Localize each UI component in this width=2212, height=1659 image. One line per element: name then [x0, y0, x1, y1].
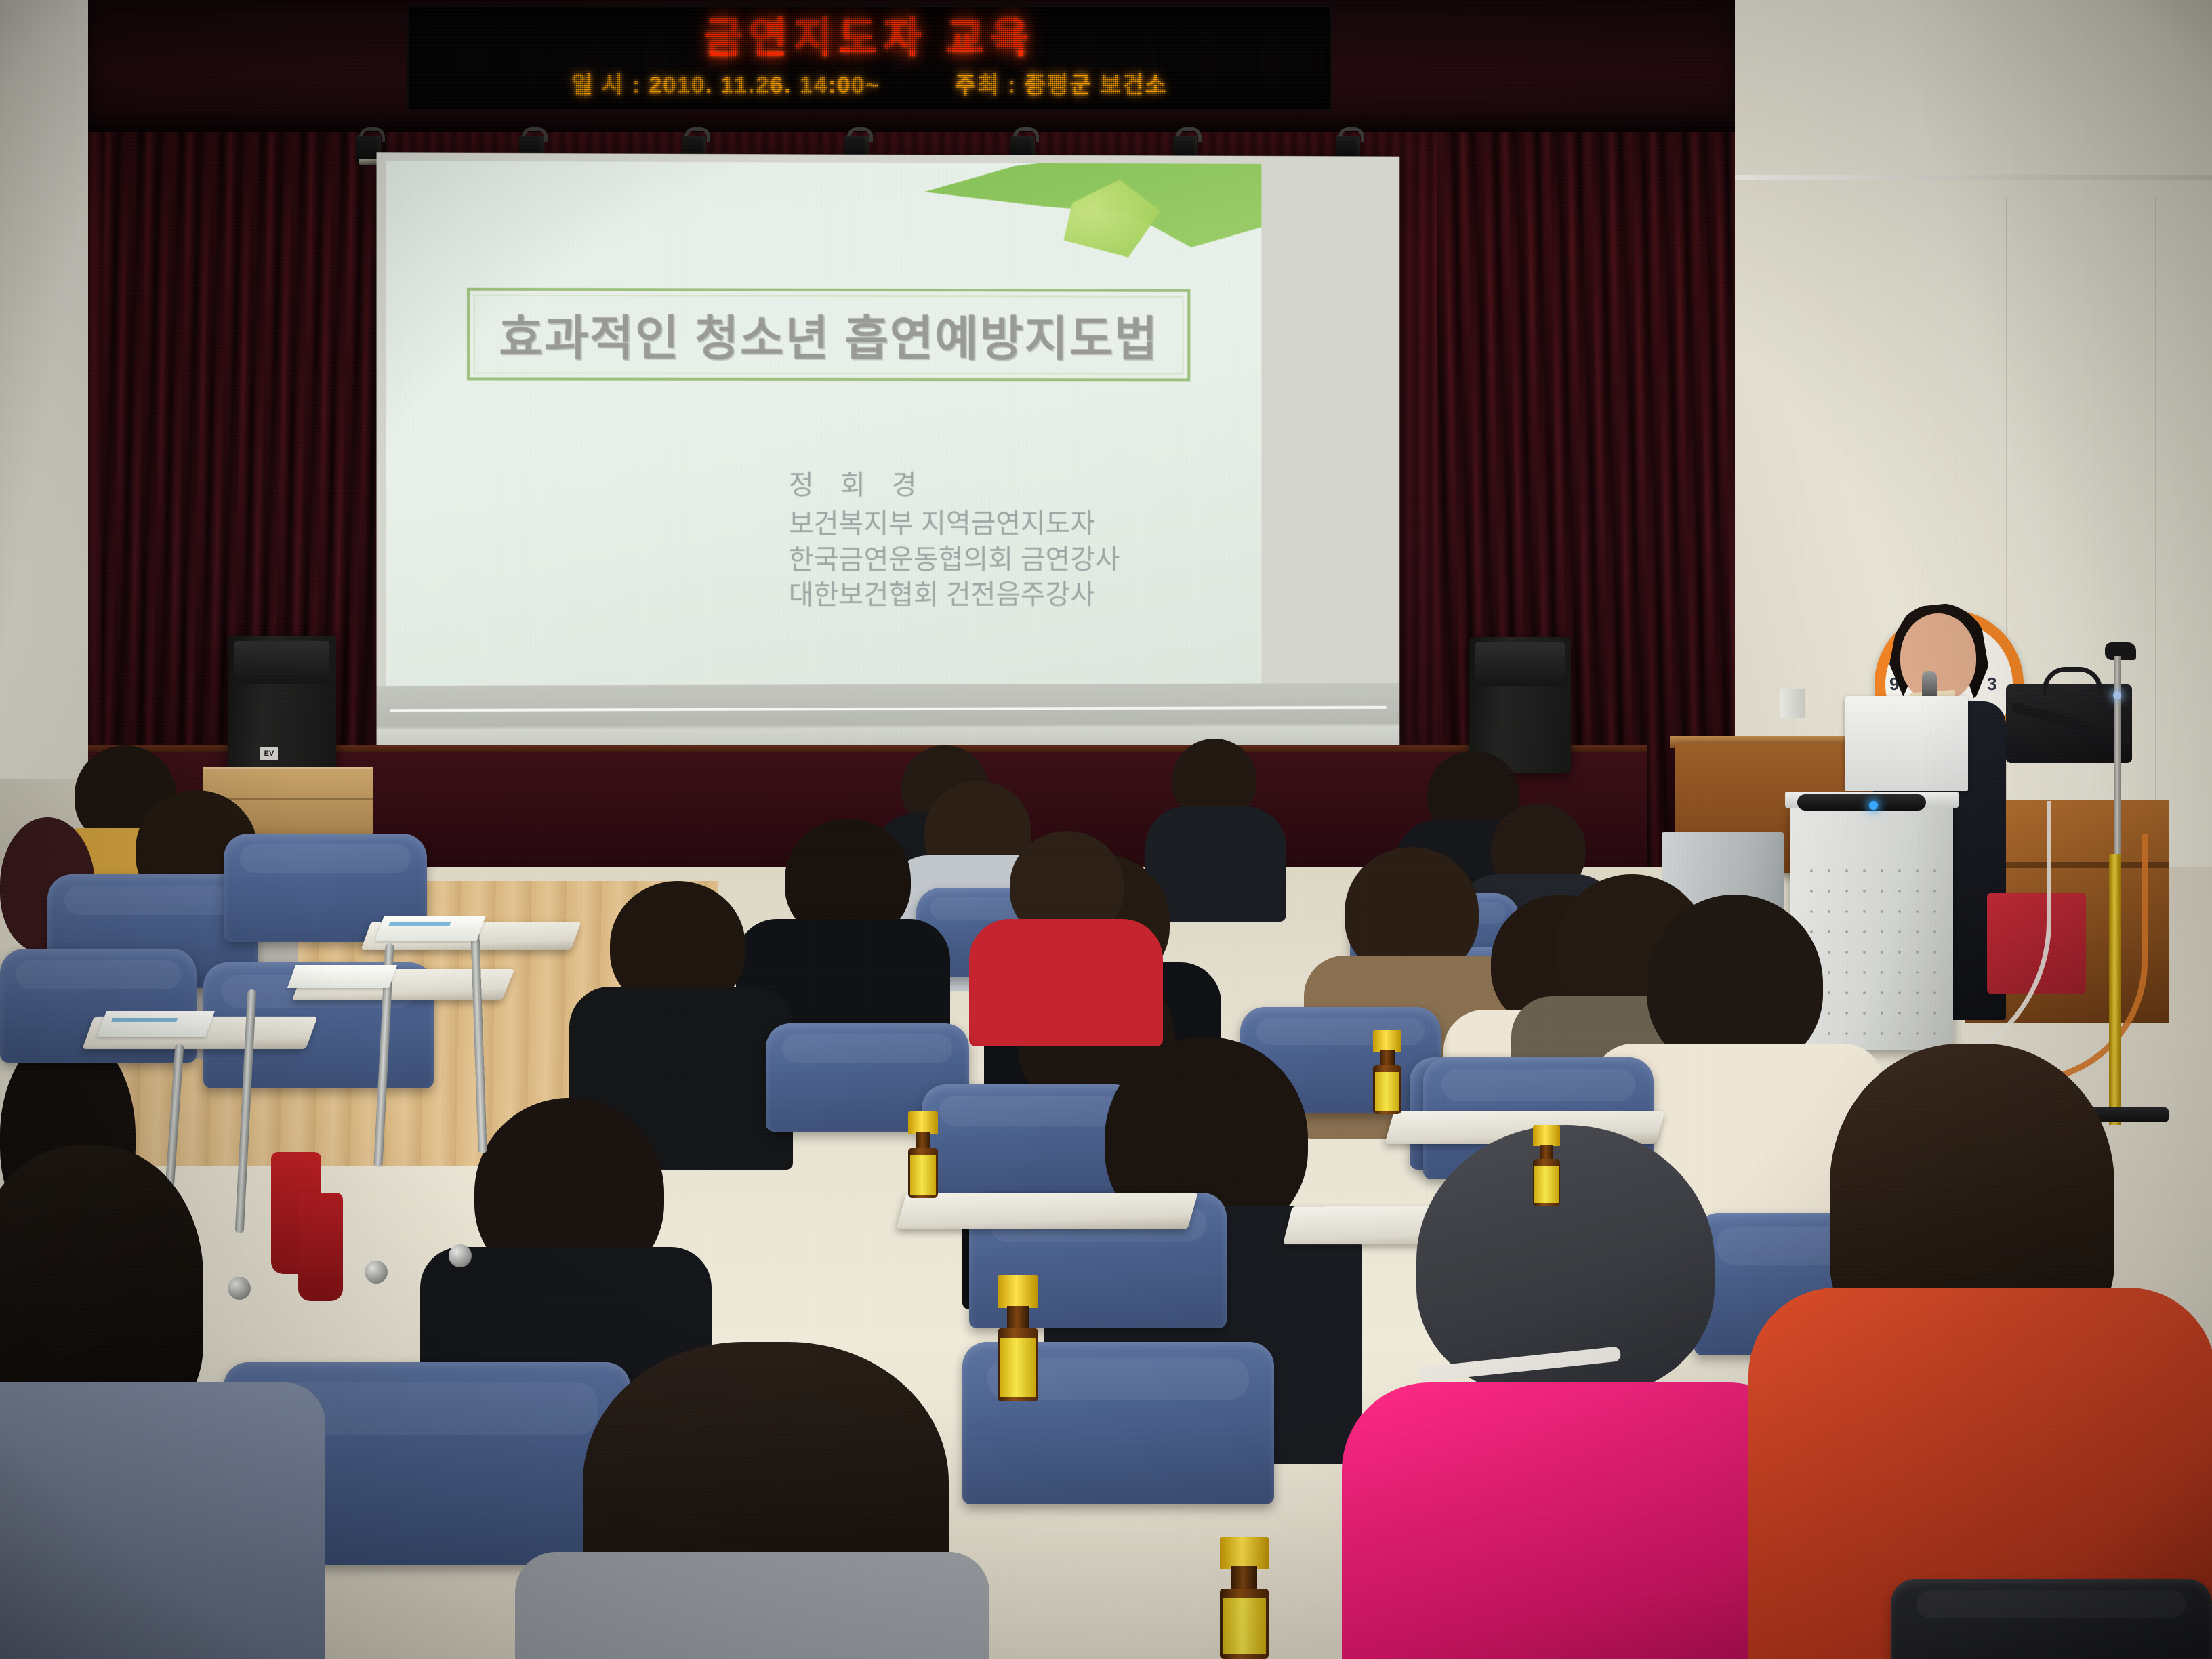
led-datetime: 일 시 : 2010. 11.26. 14:00~ — [571, 66, 880, 100]
drink-bottle[interactable] — [1220, 1537, 1269, 1659]
drink-bottle[interactable] — [1533, 1125, 1560, 1206]
auditorium-photo: 금연지도자 교육 일 시 : 2010. 11.26. 14:00~ 주최 : … — [0, 0, 2212, 1659]
drink-bottle[interactable] — [908, 1111, 938, 1198]
presenter-name: 정 회 경 — [789, 468, 1208, 504]
speaker-brand-badge: EV — [260, 747, 278, 760]
led-host: 주최 : 증평군 보건소 — [955, 66, 1168, 100]
wall-right-trim — [1677, 175, 2212, 180]
paper-cup — [1780, 689, 1805, 718]
led-marquee-sign: 금연지도자 교육 일 시 : 2010. 11.26. 14:00~ 주최 : … — [407, 5, 1332, 111]
drink-bottle[interactable] — [1373, 1030, 1401, 1114]
led-headline: 금연지도자 교육 — [704, 18, 1036, 60]
mic-stand-yellow-section — [2109, 854, 2121, 1125]
handout[interactable] — [287, 965, 397, 988]
laptop — [1845, 696, 1968, 791]
red-boot — [298, 1193, 343, 1301]
pa-speaker-left: EV — [228, 636, 336, 771]
slide-title-box: 효과적인 청소년 흡연예방지도법 — [467, 288, 1190, 382]
desk-caster — [449, 1244, 472, 1267]
led-subline: 일 시 : 2010. 11.26. 14:00~ 주최 : 증평군 보건소 — [571, 66, 1168, 100]
desk-caster — [365, 1261, 388, 1284]
fold-out-desk[interactable] — [896, 1193, 1197, 1229]
clock-number: 3 — [1987, 674, 1996, 695]
auditorium-seat[interactable] — [1891, 1579, 2212, 1659]
presenter-credential: 대한보건협회 건전음주강사 — [789, 577, 1208, 614]
presentation-slide: 효과적인 청소년 흡연예방지도법 정 회 경 보건복지부 지역금연지도자 한국금… — [386, 161, 1262, 686]
projection-screen: 효과적인 청소년 흡연예방지도법 정 회 경 보건복지부 지역금연지도자 한국금… — [377, 152, 1400, 759]
drink-bottle[interactable] — [998, 1275, 1038, 1401]
desk-caster — [228, 1277, 251, 1300]
slide-byline: 정 회 경 보건복지부 지역금연지도자 한국금연운동협의회 금연강사 대한보건협… — [789, 468, 1208, 614]
presenter-credential: 한국금연운동협의회 금연강사 — [789, 541, 1208, 577]
handout[interactable] — [97, 1011, 215, 1037]
pink-puffer-jacket — [1342, 1382, 1816, 1659]
handout[interactable] — [375, 916, 485, 941]
mic-stand-led — [2113, 691, 2121, 699]
presenter-credential: 보건복지부 지역금연지도자 — [789, 506, 1208, 542]
slide-title: 효과적인 청소년 흡연예방지도법 — [499, 300, 1159, 369]
presenter-head — [1900, 613, 1976, 701]
